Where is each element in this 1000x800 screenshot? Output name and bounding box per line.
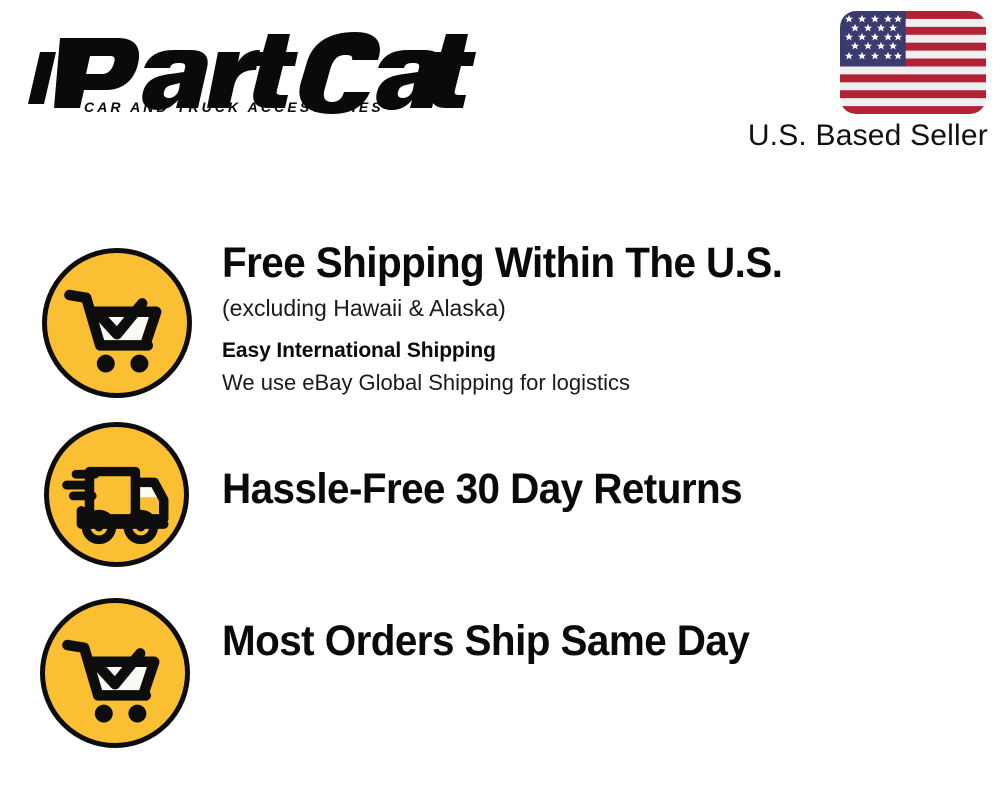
feature-row: Free Shipping Within The U.S. (excluding… [0,238,1000,408]
feature-subline-strong: Easy International Shipping [222,336,980,366]
feature-row: Most Orders Ship Same Day [0,586,1000,751]
shopping-cart-check-icon [42,248,192,398]
us-based-seller-label: U.S. Based Seller [748,118,988,154]
us-flag-icon [840,11,986,114]
delivery-truck-icon [44,422,189,567]
feature-text-block: Most Orders Ship Same Day [222,616,980,666]
svg-text:CAR AND TRUCK ACCESSORIES: CAR AND TRUCK ACCESSORIES [84,99,384,114]
feature-headline: Hassle-Free 30 Day Returns [222,464,935,514]
feature-text-block: Hassle-Free 30 Day Returns [222,464,980,514]
feature-text-block: Free Shipping Within The U.S. (excluding… [222,238,980,398]
feature-row: Hassle-Free 30 Day Returns [0,415,1000,575]
feature-headline: Free Shipping Within The U.S. [222,238,935,288]
feature-headline: Most Orders Ship Same Day [222,616,935,666]
brand-logo-tagline: CAR AND TRUCK ACCESSORIES [22,22,23,23]
feature-subline: (excluding Hawaii & Alaska) [222,292,980,324]
shopping-cart-check-icon [40,598,190,748]
brand-logo[interactable]: CAR AND TRUCK ACCESSORIES PartCatalog CA… [22,22,492,114]
feature-subline-plain: We use eBay Global Shipping for logistic… [222,367,980,398]
